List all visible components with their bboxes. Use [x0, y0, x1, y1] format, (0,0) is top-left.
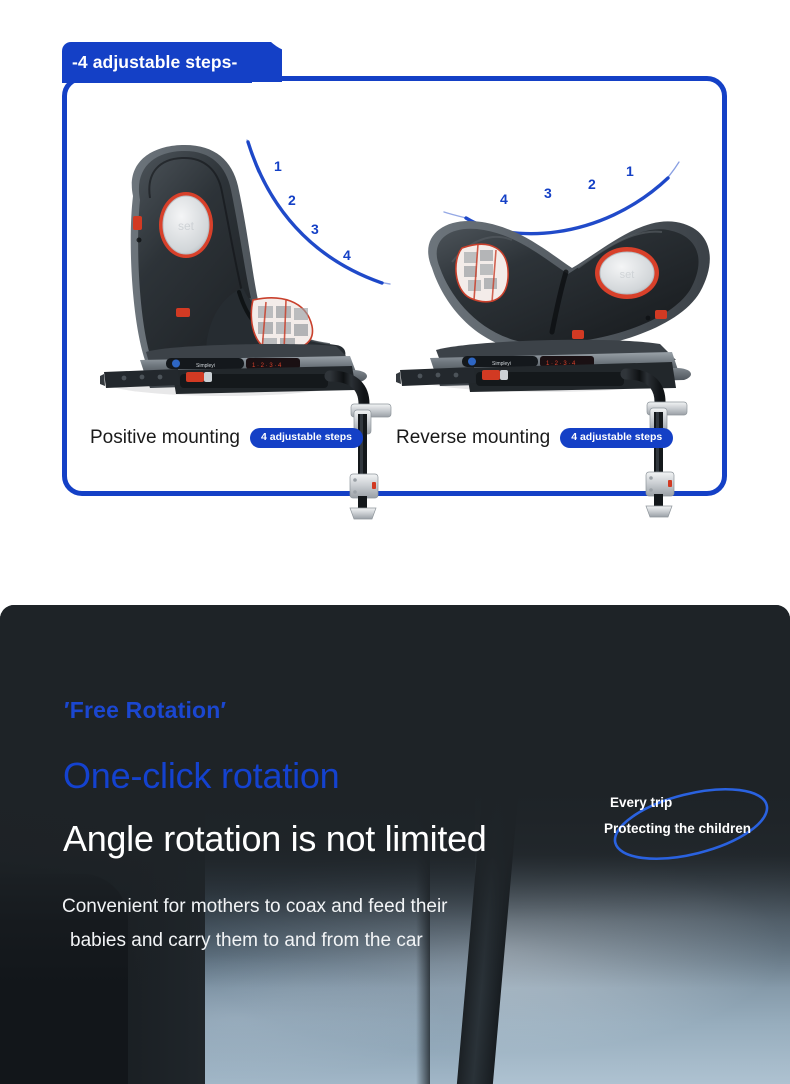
headline-blue: One-click rotation [63, 755, 340, 797]
step-number-right-3: 3 [544, 185, 552, 201]
svg-text:Simpleyi: Simpleyi [196, 363, 215, 369]
subcopy-line-2: babies and carry them to and from the ca… [62, 924, 448, 958]
car-seat-illustration: set [0, 0, 790, 600]
step-number-left-1: 1 [274, 158, 282, 174]
subcopy-line-1: Convenient for mothers to coax and feed … [62, 896, 448, 917]
warning-sticker-left [251, 298, 312, 351]
section-tab-label: -4 adjustable steps- [72, 52, 237, 73]
step-number-right-2: 2 [588, 176, 596, 192]
subcopy: Convenient for mothers to coax and feed … [62, 890, 448, 958]
annotation-line-1: Every trip [610, 795, 672, 810]
rotation-knob-left: set [159, 192, 213, 258]
step-number-left-2: 2 [288, 192, 296, 208]
release-tab [176, 308, 190, 317]
caption-label: Positive mounting [90, 427, 240, 449]
svg-text:Simpleyi: Simpleyi [492, 361, 511, 367]
badge-adjustable-steps-left: 4 adjustable steps [250, 428, 363, 448]
annotation-line-2: Protecting the children [604, 821, 751, 836]
release-tab [655, 310, 667, 319]
eyebrow-text: ′Free Rotation′ [64, 697, 226, 724]
step-number-right-1: 1 [626, 163, 634, 179]
tab-tail-curve [248, 42, 282, 82]
section-tab-header: -4 adjustable steps- [62, 42, 263, 82]
step-number-left-3: 3 [311, 221, 319, 237]
adjustable-steps-section: -4 adjustable steps- [0, 0, 790, 600]
car-seat-positive: set [100, 145, 367, 396]
caption-reverse-mounting: Reverse mounting 4 adjustable steps [396, 427, 673, 449]
step-number-right-4: 4 [500, 191, 508, 207]
caption-label: Reverse mounting [396, 427, 550, 449]
badge-adjustable-steps-right: 4 adjustable steps [560, 428, 673, 448]
annotation-every-trip: Every trip Protecting the children [596, 778, 786, 870]
release-tab [572, 330, 584, 339]
warning-sticker-right [456, 244, 508, 302]
rotation-knob-right: set [595, 247, 659, 299]
headline-white: Angle rotation is not limited [63, 818, 487, 860]
car-seat-reverse: set [396, 221, 710, 392]
product-detail-page: -4 adjustable steps- [0, 0, 790, 1084]
caption-positive-mounting: Positive mounting 4 adjustable steps [90, 427, 363, 449]
svg-text:set: set [178, 219, 195, 233]
svg-text:set: set [620, 269, 635, 281]
step-number-left-4: 4 [343, 247, 351, 263]
release-tab [133, 216, 142, 230]
